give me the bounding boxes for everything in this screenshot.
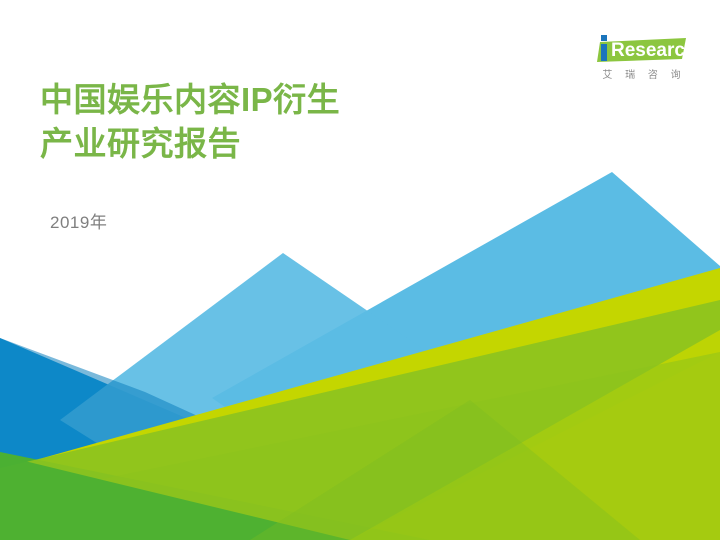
logo-i-dot [601, 35, 607, 41]
logo-chinese-name: 艾 瑞 咨 询 [596, 66, 688, 81]
title-line-2: 产业研究报告 [40, 122, 560, 166]
iresearch-logo: Research 艾 瑞 咨 询 [596, 33, 688, 85]
logo-wordmark: Research [596, 33, 688, 63]
report-cover-slide: 中国娱乐内容IP衍生 产业研究报告 2019年 Research 艾 瑞 咨 询 [0, 0, 720, 540]
subtitle-year: 2019年 [50, 211, 107, 235]
page-title: 中国娱乐内容IP衍生 产业研究报告 [40, 78, 560, 166]
logo-i-stem [601, 44, 607, 61]
logo-wordmark-text: Research [611, 40, 688, 61]
title-line-1: 中国娱乐内容IP衍生 [40, 78, 560, 122]
